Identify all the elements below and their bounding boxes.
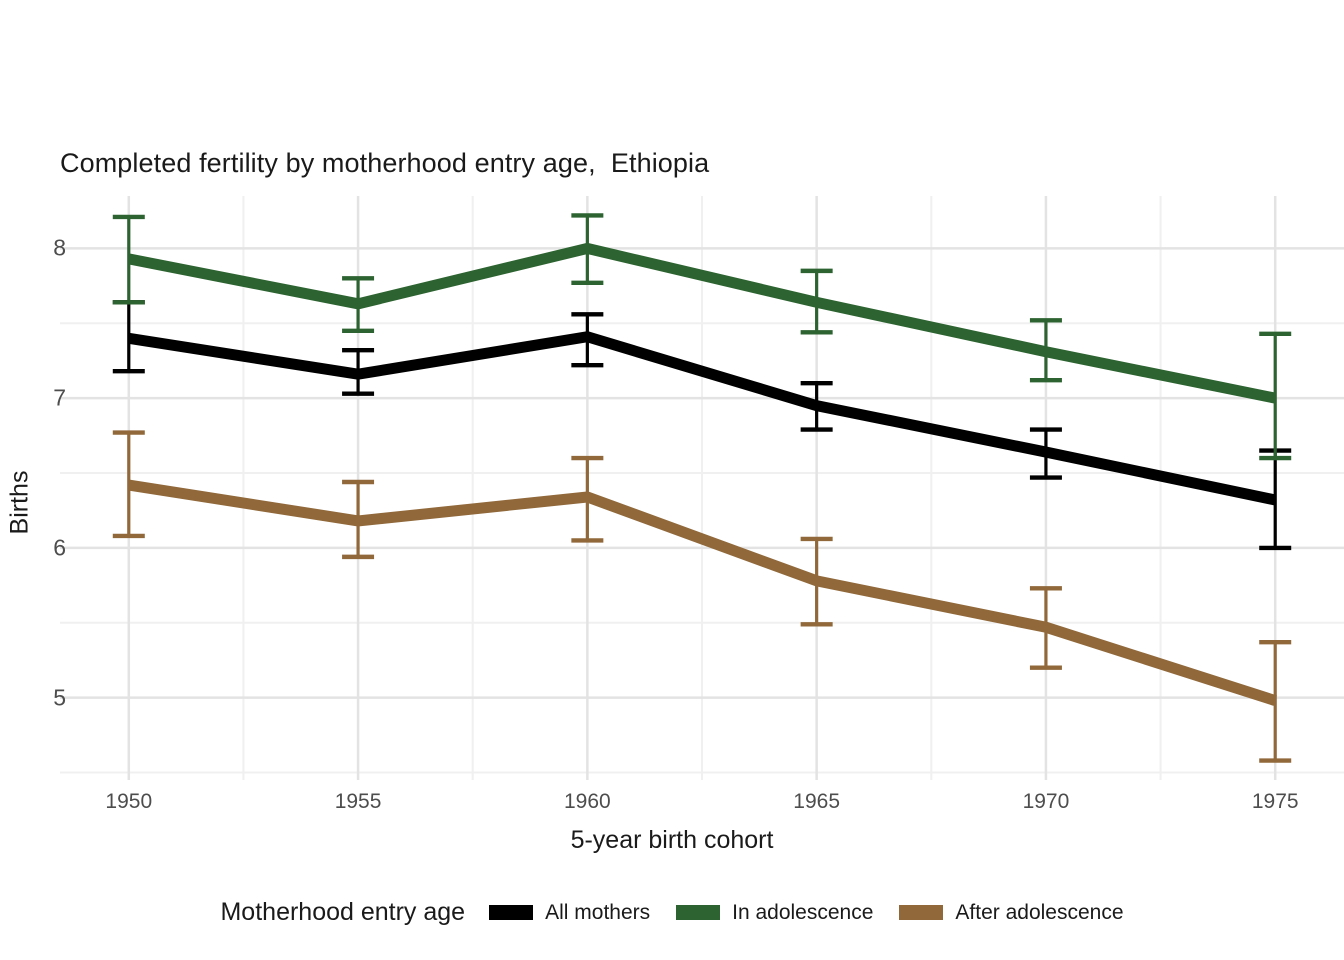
y-tick-label-7: 7 [22,385,66,412]
legend-swatch-icon [489,905,533,920]
chart-legend: Motherhood entry age All mothersIn adole… [0,898,1344,927]
x-tick-label-1950: 1950 [105,790,152,814]
x-tick-label-1965: 1965 [793,790,840,814]
legend-item-after-adolescence[interactable]: After adolescence [899,901,1123,925]
x-tick-label-1955: 1955 [335,790,382,814]
legend-items: All mothersIn adolescenceAfter adolescen… [489,901,1123,925]
legend-item-label: In adolescence [732,901,873,925]
y-axis-title: Births [6,443,35,563]
x-tick-label-1975: 1975 [1252,790,1299,814]
legend-swatch-icon [899,905,943,920]
y-tick-label-5: 5 [22,684,66,711]
x-axis-title: 5-year birth cohort [0,826,1344,855]
legend-swatch-icon [676,905,720,920]
x-tick-label-1960: 1960 [564,790,611,814]
y-tick-label-8: 8 [22,235,66,262]
chart-root: Completed fertility by motherhood entry … [0,0,1344,960]
legend-title: Motherhood entry age [220,898,465,927]
legend-item-in-adolescence[interactable]: In adolescence [676,901,873,925]
x-tick-label-1970: 1970 [1023,790,1070,814]
plot-panel [60,196,1344,780]
legend-item-label: After adolescence [955,901,1123,925]
legend-item-all-mothers[interactable]: All mothers [489,901,650,925]
chart-title: Completed fertility by motherhood entry … [60,146,709,180]
legend-item-label: All mothers [545,901,650,925]
plot-svg [60,196,1344,780]
